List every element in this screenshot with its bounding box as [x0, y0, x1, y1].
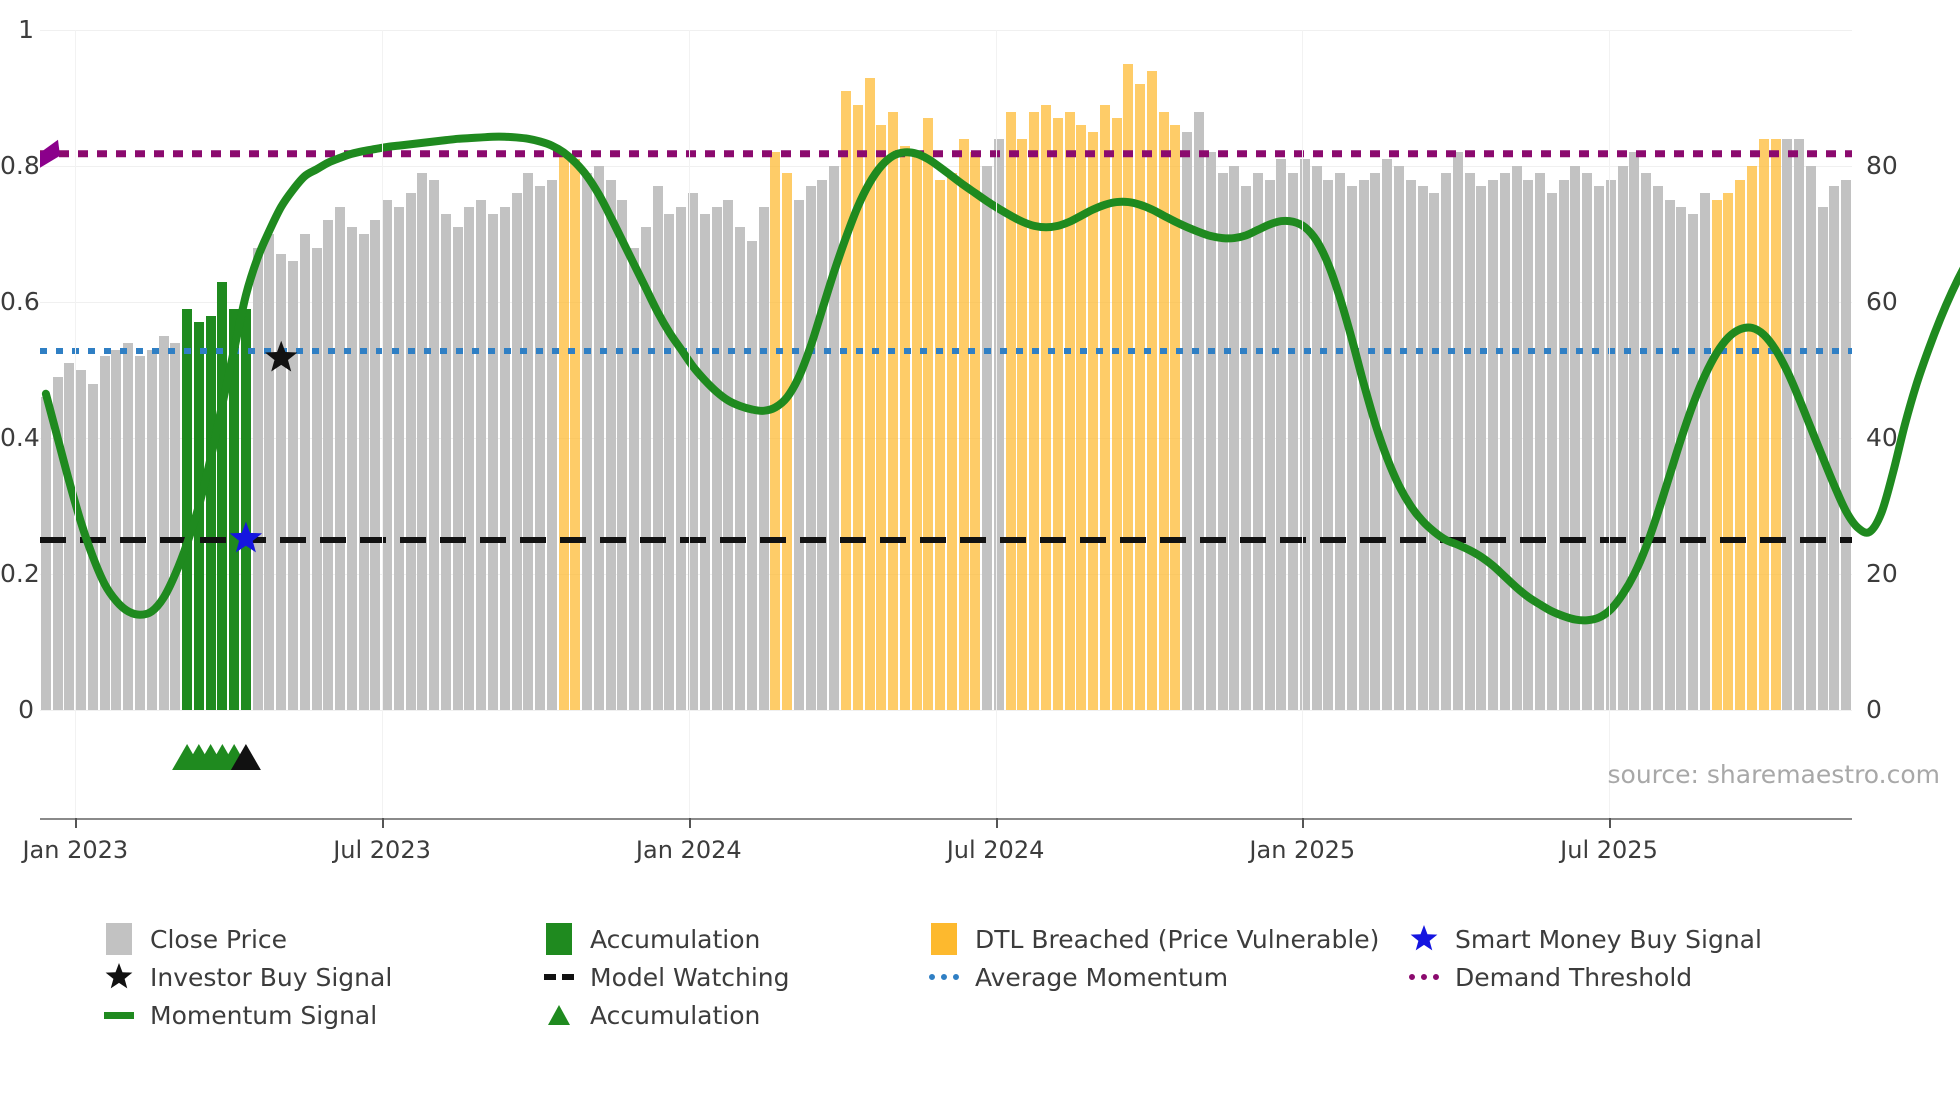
legend-item[interactable]: Average Momentum: [929, 958, 1409, 996]
legend-label: Demand Threshold: [1455, 963, 1692, 992]
legend-item[interactable]: Smart Money Buy Signal: [1409, 920, 1829, 958]
legend-label: DTL Breached (Price Vulnerable): [975, 925, 1379, 954]
legend-item[interactable]: Model Watching: [544, 958, 929, 996]
x-axis-tick: [75, 818, 77, 828]
x-axis-tick: [996, 818, 998, 828]
dotted-blue-line-icon: [929, 960, 959, 994]
accumulation-triangle-strip: [40, 736, 1852, 772]
x-axis-tick-label: Jul 2025: [1560, 836, 1658, 864]
green-line-icon: [104, 998, 134, 1032]
x-axis-tick-label: Jan 2023: [22, 836, 128, 864]
x-axis-tick: [382, 818, 384, 828]
x-gridline: [75, 30, 76, 818]
legend-label: Smart Money Buy Signal: [1455, 925, 1762, 954]
gray-square-icon: [104, 922, 134, 956]
investor-buy-signal-marker: [265, 341, 297, 372]
legend-item[interactable]: DTL Breached (Price Vulnerable): [929, 920, 1409, 958]
smart-money-buy-signal-marker: [230, 522, 262, 553]
y-axis-right-tick: 60: [1866, 289, 1926, 314]
x-axis-tick-label: Jan 2025: [1249, 836, 1355, 864]
chart-legend: Close PriceAccumulationDTL Breached (Pri…: [104, 920, 1924, 1034]
y-axis-left-tick: 0.6: [0, 289, 34, 314]
dotted-purple-line-icon: [1409, 960, 1439, 994]
orange-square-icon: [929, 922, 959, 956]
x-axis-tick: [1302, 818, 1304, 828]
x-gridline: [996, 30, 997, 818]
gridline: [40, 710, 1852, 711]
legend-label: Model Watching: [590, 963, 790, 992]
dashed-line-icon: [544, 960, 574, 994]
y-axis-left-tick: 0.8: [0, 153, 34, 178]
momentum-chart: 10.80.60.40.20 806040200 Jan 2023Jul 202…: [0, 0, 1960, 1102]
x-gridline: [1609, 30, 1610, 818]
green-square-icon: [544, 922, 574, 956]
x-gridline: [689, 30, 690, 818]
legend-item[interactable]: Momentum Signal: [104, 996, 544, 1034]
x-gridline: [1302, 30, 1303, 818]
y-axis-right-tick: 40: [1866, 425, 1926, 450]
x-axis-tick: [1609, 818, 1611, 828]
x-gridline: [382, 30, 383, 818]
blue-star-icon: [1409, 922, 1439, 956]
legend-label: Accumulation: [590, 925, 760, 954]
legend-label: Close Price: [150, 925, 287, 954]
x-axis-line: [40, 818, 1852, 820]
legend-label: Accumulation: [590, 1001, 760, 1030]
legend-item[interactable]: Accumulation: [544, 996, 929, 1034]
x-axis-tick-label: Jul 2024: [947, 836, 1045, 864]
y-axis-left-tick: 1: [0, 17, 34, 42]
y-axis-right-tick: 0: [1866, 697, 1926, 722]
black-star-icon: [104, 960, 134, 994]
x-axis-tick: [689, 818, 691, 828]
y-axis-right-tick: 80: [1866, 153, 1926, 178]
y-axis-left-tick: 0: [0, 697, 34, 722]
legend-label: Investor Buy Signal: [150, 963, 392, 992]
legend-item[interactable]: Accumulation: [544, 920, 929, 958]
y-axis-left-tick: 0.2: [0, 561, 34, 586]
legend-label: Average Momentum: [975, 963, 1228, 992]
legend-item[interactable]: Investor Buy Signal: [104, 958, 544, 996]
demand-threshold-marker: [40, 140, 60, 168]
x-axis-tick-label: Jul 2023: [333, 836, 431, 864]
legend-label: Momentum Signal: [150, 1001, 377, 1030]
legend-item[interactable]: Demand Threshold: [1409, 958, 1829, 996]
plot-area: [40, 30, 1852, 710]
source-note: source: sharemaestro.com: [1608, 760, 1941, 789]
green-triangle-icon: [544, 998, 574, 1032]
y-axis-right-tick: 20: [1866, 561, 1926, 586]
marker-overlay: [40, 30, 1852, 710]
y-axis-left-tick: 0.4: [0, 425, 34, 450]
legend-item[interactable]: Close Price: [104, 920, 544, 958]
x-axis-tick-label: Jan 2024: [636, 836, 742, 864]
